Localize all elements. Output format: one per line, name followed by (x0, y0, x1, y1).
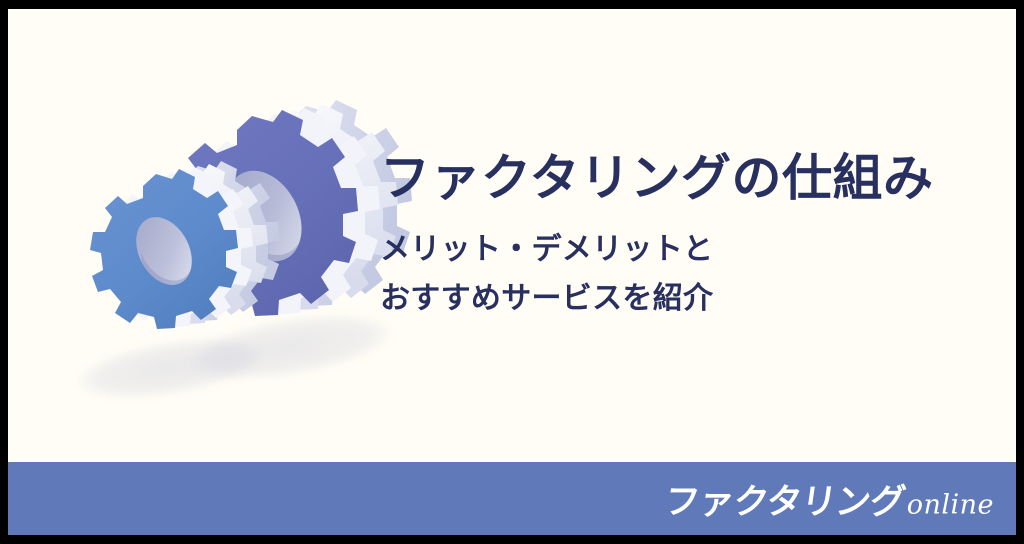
footer-bar: ファクタリング online (8, 462, 1016, 535)
page-title: ファクタリングの仕組み (380, 149, 980, 208)
banner-canvas: ファクタリングの仕組み メリット・デメリットと おすすめサービスを紹介 ファクタ… (8, 9, 1016, 535)
brand-logo[interactable]: ファクタリング online (665, 473, 994, 524)
banner-frame: ファクタリングの仕組み メリット・デメリットと おすすめサービスを紹介 ファクタ… (0, 0, 1024, 544)
brand-logo-en-text: online (907, 489, 994, 520)
headline-block: ファクタリングの仕組み メリット・デメリットと おすすめサービスを紹介 (380, 149, 980, 323)
brand-logo-jp-text: ファクタリング (661, 473, 908, 524)
page-subtitle-line-2: おすすめサービスを紹介 (380, 275, 980, 324)
page-subtitle-line-1: メリット・デメリットと (380, 226, 980, 275)
small-gear-icon (60, 164, 250, 369)
gear-illustration (60, 104, 380, 414)
page-subtitle: メリット・デメリットと おすすめサービスを紹介 (380, 226, 980, 323)
